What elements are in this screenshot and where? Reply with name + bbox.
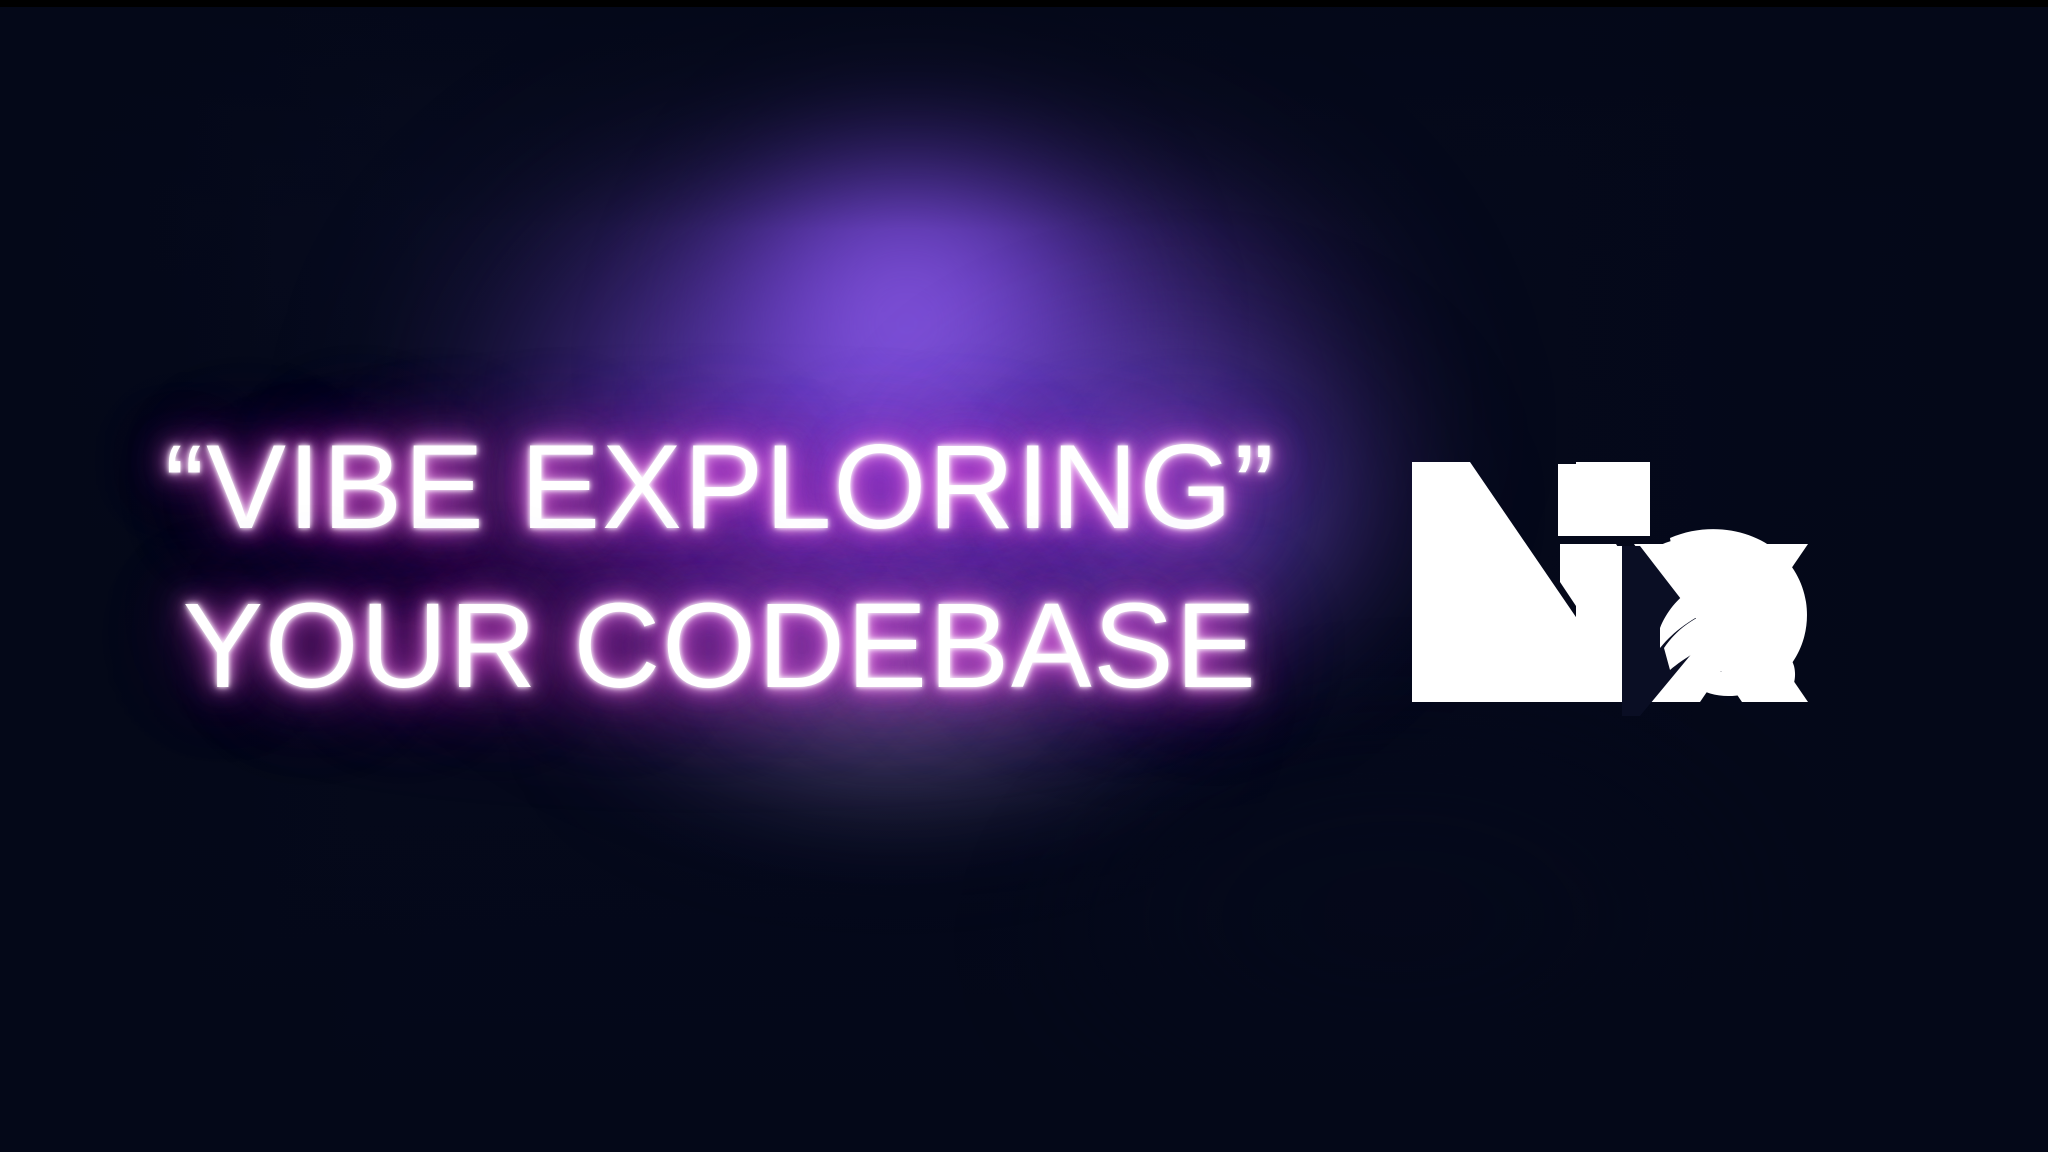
headline: “VIBE EXPLORING” YOUR CODEBASE: [140, 408, 1300, 724]
headline-line-2: YOUR CODEBASE: [140, 566, 1300, 724]
top-letterbox-bar: [0, 0, 2048, 7]
headline-line-1: “VIBE EXPLORING”: [140, 408, 1300, 566]
nx-logo: [1408, 448, 1808, 716]
vignette-bottom: [0, 792, 2048, 1152]
slide-canvas: “VIBE EXPLORING” YOUR CODEBASE: [0, 0, 2048, 1152]
nx-logo-icon: [1408, 448, 1808, 716]
